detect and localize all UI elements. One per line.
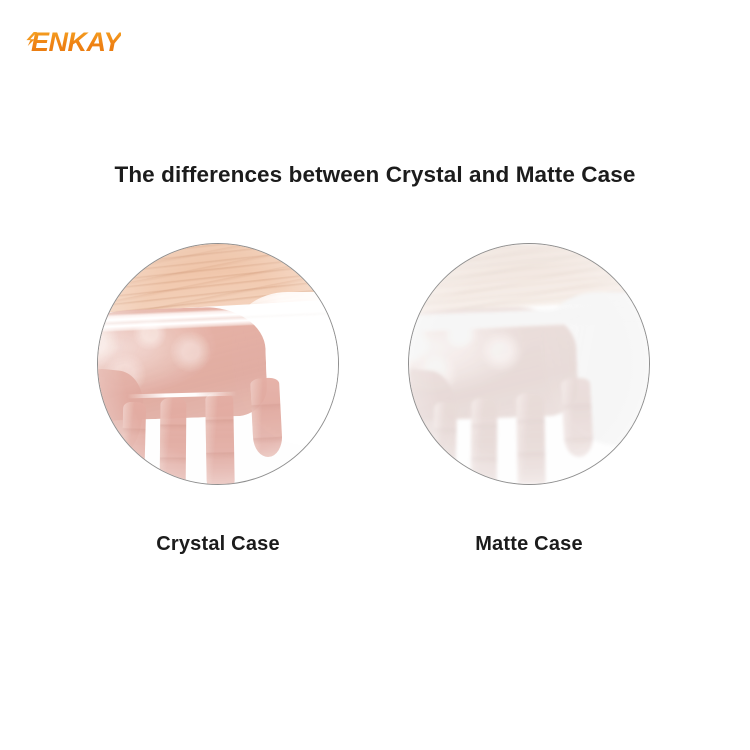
finger-shape bbox=[250, 378, 283, 459]
finger-shape bbox=[205, 393, 234, 484]
finger-shape bbox=[561, 378, 594, 459]
finger-shape bbox=[160, 397, 187, 484]
hand-through-crystal-case-scene bbox=[98, 244, 338, 484]
brand-logo: ENKAY bbox=[31, 29, 121, 56]
finger-shape bbox=[432, 402, 457, 484]
matte-case-caption: Matte Case bbox=[408, 533, 650, 556]
page-title: The differences between Crystal and Matt… bbox=[0, 161, 750, 188]
matte-case-photo bbox=[408, 243, 650, 485]
comparison-item-crystal: Crystal Case bbox=[97, 243, 339, 556]
crystal-case-caption: Crystal Case bbox=[97, 533, 339, 556]
comparison-item-matte: Matte Case bbox=[408, 243, 650, 556]
crystal-case-photo bbox=[97, 243, 339, 485]
finger-shape bbox=[121, 402, 146, 484]
finger-shape bbox=[516, 393, 545, 484]
case-comparison-row: Crystal Case Matte Case bbox=[0, 243, 750, 573]
hand-through-matte-case-scene bbox=[409, 244, 649, 484]
finger-shape bbox=[471, 397, 498, 484]
